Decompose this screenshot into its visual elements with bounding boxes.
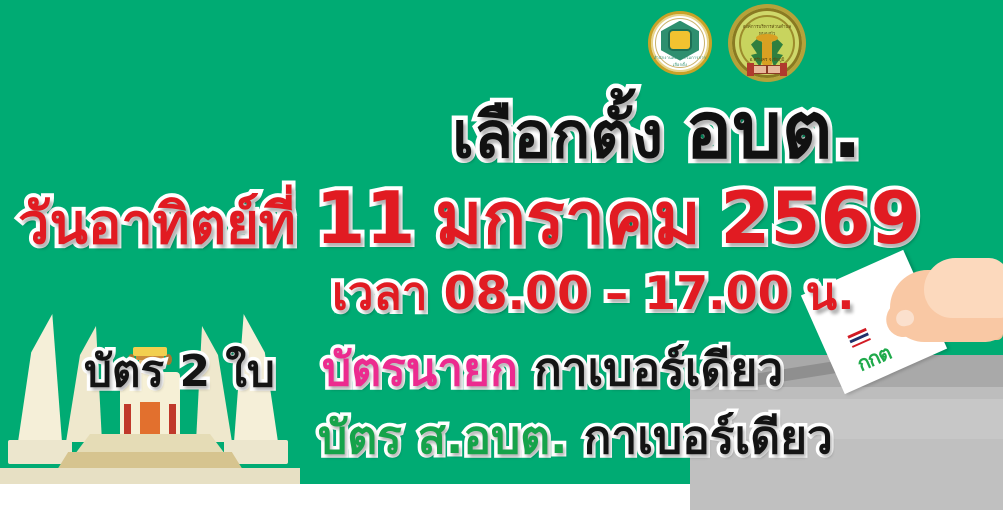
time-label: เวลา	[332, 266, 428, 320]
monument-steps-upper	[75, 434, 225, 454]
seal-caption: สำนักงานคณะกรรมการการเลือกตั้ง	[651, 54, 709, 68]
headline-prefix: เลือกตั้ง	[452, 99, 663, 173]
date-line: วันอาทิตย์ที่ 11 มกราคม 2569	[18, 182, 921, 254]
monument-pillar-left	[124, 404, 131, 436]
ballots-count: บัตร 2 ใบ	[84, 350, 275, 394]
cuff-right	[780, 63, 787, 76]
time-range: 08.00 – 17.00	[444, 266, 790, 320]
time-line: เวลา 08.00 – 17.00 น.	[332, 270, 855, 316]
monument-pillar-right	[169, 404, 176, 436]
monument-wing-1	[18, 314, 62, 442]
ballot-row-council-instruction: กาเบอร์เดียว	[584, 410, 833, 464]
headline: เลือกตั้ง อบต.	[452, 92, 862, 170]
sao-local-administration-seal-icon: องค์การบริหารส่วนตำบลหนองบัว อ.ศรีนคร จ.…	[728, 4, 806, 82]
election-commission-seal-icon: สำนักงานคณะกรรมการการเลือกตั้ง	[648, 11, 712, 75]
hand-knuckles	[924, 258, 1003, 318]
seal-emblem-mark	[670, 31, 690, 49]
time-unit: น.	[806, 266, 855, 320]
ballot-row-president-type: บัตรนายก	[322, 342, 518, 396]
seal-caption-bottom: อ.ศรีนคร จ.ชัยภูมิ	[741, 56, 793, 63]
monument-wing-base-left	[8, 440, 72, 464]
monument-door	[140, 402, 160, 436]
ballot-row-council: บัตร ส.อบต. กาเบอร์เดียว	[318, 414, 833, 460]
election-poster: สำนักงานคณะกรรมการการเลือกตั้ง องค์การบร…	[0, 0, 1003, 510]
ballot-row-president-instruction: กาเบอร์เดียว	[534, 342, 783, 396]
handshake-icon	[747, 63, 787, 75]
date-day: 11	[315, 176, 415, 260]
date-year: 2569	[720, 176, 920, 260]
ballot-row-council-type: บัตร ส.อบต.	[318, 410, 568, 464]
cuff-left	[747, 63, 754, 76]
date-month: มกราคม	[435, 176, 701, 260]
ballot-row-president: บัตรนายก กาเบอร์เดียว	[322, 346, 783, 392]
seal-disc: องค์การบริหารส่วนตำบลหนองบัว อ.ศรีนคร จ.…	[739, 15, 795, 71]
date-prefix: วันอาทิตย์ที่	[18, 192, 296, 257]
monument-plinth	[0, 468, 300, 484]
headline-main: อบต.	[685, 86, 862, 176]
hand-casting-vote-illustration	[880, 252, 1003, 362]
emblem-row: สำนักงานคณะกรรมการการเลือกตั้ง องค์การบร…	[642, 2, 822, 84]
